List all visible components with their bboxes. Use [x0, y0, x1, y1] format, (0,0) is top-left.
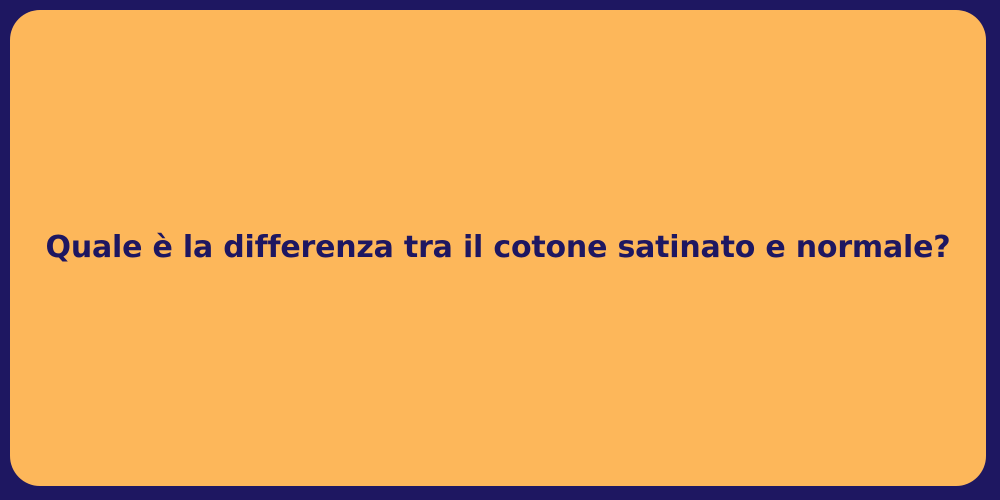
question-title: Quale è la differenza tra il cotone sati… — [46, 229, 951, 267]
page-frame: Quale è la differenza tra il cotone sati… — [0, 0, 1000, 500]
question-card: Quale è la differenza tra il cotone sati… — [10, 10, 986, 486]
